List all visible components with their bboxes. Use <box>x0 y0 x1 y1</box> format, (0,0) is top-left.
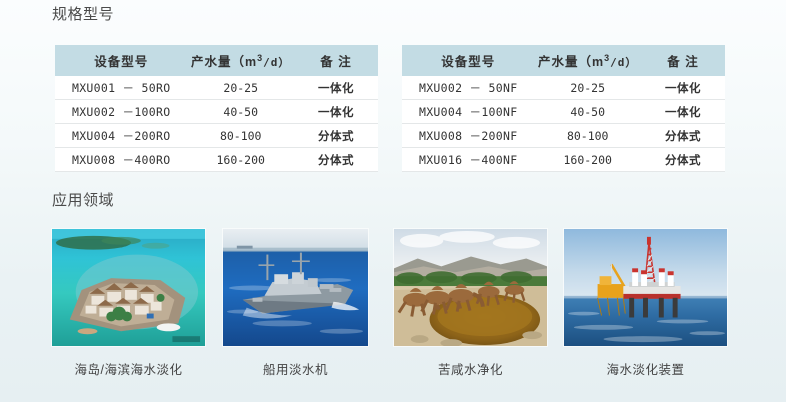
cell-model: MXU004 －200RO <box>55 124 187 148</box>
table-row: MXU008 －400RO 160-200 分体式 <box>55 148 378 172</box>
header-output-label: 产水量（m <box>538 55 604 69</box>
cell-output: 20-25 <box>187 76 294 100</box>
application-item[interactable]: 海水淡化装置 <box>563 228 728 378</box>
spec-table-nf-body: MXU002 － 50NF 20-25 一体化 MXU004 －100NF 40… <box>402 76 725 172</box>
table-row: MXU001 － 50RO 20-25 一体化 <box>55 76 378 100</box>
cell-remark: 分体式 <box>641 124 725 148</box>
cell-output: 160-200 <box>187 148 294 172</box>
table-row: MXU016 －400NF 160-200 分体式 <box>402 148 725 172</box>
cell-output: 80-100 <box>534 124 641 148</box>
header-output-unit: /d） <box>610 56 637 69</box>
table-row: MXU004 －100NF 40-50 一体化 <box>402 100 725 124</box>
table-row: MXU002 －100RO 40-50 一体化 <box>55 100 378 124</box>
cell-model: MXU016 －400NF <box>402 148 534 172</box>
table-header-row: 设备型号 产水量（m3/d） 备 注 <box>55 45 378 76</box>
cell-output: 40-50 <box>534 100 641 124</box>
cell-remark: 一体化 <box>641 76 725 100</box>
application-caption: 船用淡水机 <box>222 359 369 378</box>
table-header-row: 设备型号 产水量（m3/d） 备 注 <box>402 45 725 76</box>
application-item[interactable]: 苦咸水净化 <box>393 228 548 378</box>
cell-remark: 分体式 <box>294 148 378 172</box>
applications-section-title: 应用领域 <box>52 189 114 210</box>
header-model: 设备型号 <box>402 45 534 76</box>
cell-remark: 一体化 <box>294 100 378 124</box>
cell-model: MXU008 －400RO <box>55 148 187 172</box>
application-item[interactable]: 船用淡水机 <box>222 228 369 378</box>
spec-table-nf-header: 设备型号 产水量（m3/d） 备 注 <box>402 45 725 76</box>
header-remark: 备 注 <box>294 45 378 76</box>
product-spec-page: 规格型号 设备型号 产水量（m3/d） 备 注 MXU001 － 50RO 20… <box>0 0 786 402</box>
header-output-label: 产水量（m <box>191 55 257 69</box>
application-caption: 海水淡化装置 <box>563 359 728 378</box>
spec-table-nf: 设备型号 产水量（m3/d） 备 注 MXU002 － 50NF 20-25 一… <box>402 45 725 172</box>
application-caption: 海岛/海滨海水淡化 <box>51 359 206 378</box>
header-output: 产水量（m3/d） <box>187 45 294 76</box>
spec-section-title: 规格型号 <box>52 3 114 24</box>
cell-model: MXU004 －100NF <box>402 100 534 124</box>
spec-table-ro: 设备型号 产水量（m3/d） 备 注 MXU001 － 50RO 20-25 一… <box>55 45 378 172</box>
application-caption: 苦咸水净化 <box>393 359 548 378</box>
header-output: 产水量（m3/d） <box>534 45 641 76</box>
cell-model: MXU002 －100RO <box>55 100 187 124</box>
header-remark: 备 注 <box>641 45 725 76</box>
island-seawater-desalination-photo <box>51 228 206 347</box>
offshore-platform-desalination-plant-photo <box>563 228 728 347</box>
header-model: 设备型号 <box>55 45 187 76</box>
cell-output: 40-50 <box>187 100 294 124</box>
application-item[interactable]: 海岛/海滨海水淡化 <box>51 228 206 378</box>
cell-remark: 分体式 <box>641 148 725 172</box>
camels-brackish-water-purification-photo <box>393 228 548 347</box>
header-output-unit: /d） <box>263 56 290 69</box>
table-row: MXU002 － 50NF 20-25 一体化 <box>402 76 725 100</box>
table-row: MXU004 －200RO 80-100 分体式 <box>55 124 378 148</box>
cell-model: MXU008 －200NF <box>402 124 534 148</box>
naval-ship-freshwater-generator-photo <box>222 228 369 347</box>
cell-model: MXU001 － 50RO <box>55 76 187 100</box>
cell-remark: 分体式 <box>294 124 378 148</box>
spec-table-ro-header: 设备型号 产水量（m3/d） 备 注 <box>55 45 378 76</box>
cell-output: 80-100 <box>187 124 294 148</box>
cell-output: 160-200 <box>534 148 641 172</box>
applications-gallery: 海岛/海滨海水淡化 <box>0 228 786 378</box>
spec-table-ro-body: MXU001 － 50RO 20-25 一体化 MXU002 －100RO 40… <box>55 76 378 172</box>
cell-remark: 一体化 <box>641 100 725 124</box>
cell-output: 20-25 <box>534 76 641 100</box>
cell-model: MXU002 － 50NF <box>402 76 534 100</box>
table-row: MXU008 －200NF 80-100 分体式 <box>402 124 725 148</box>
cell-remark: 一体化 <box>294 76 378 100</box>
